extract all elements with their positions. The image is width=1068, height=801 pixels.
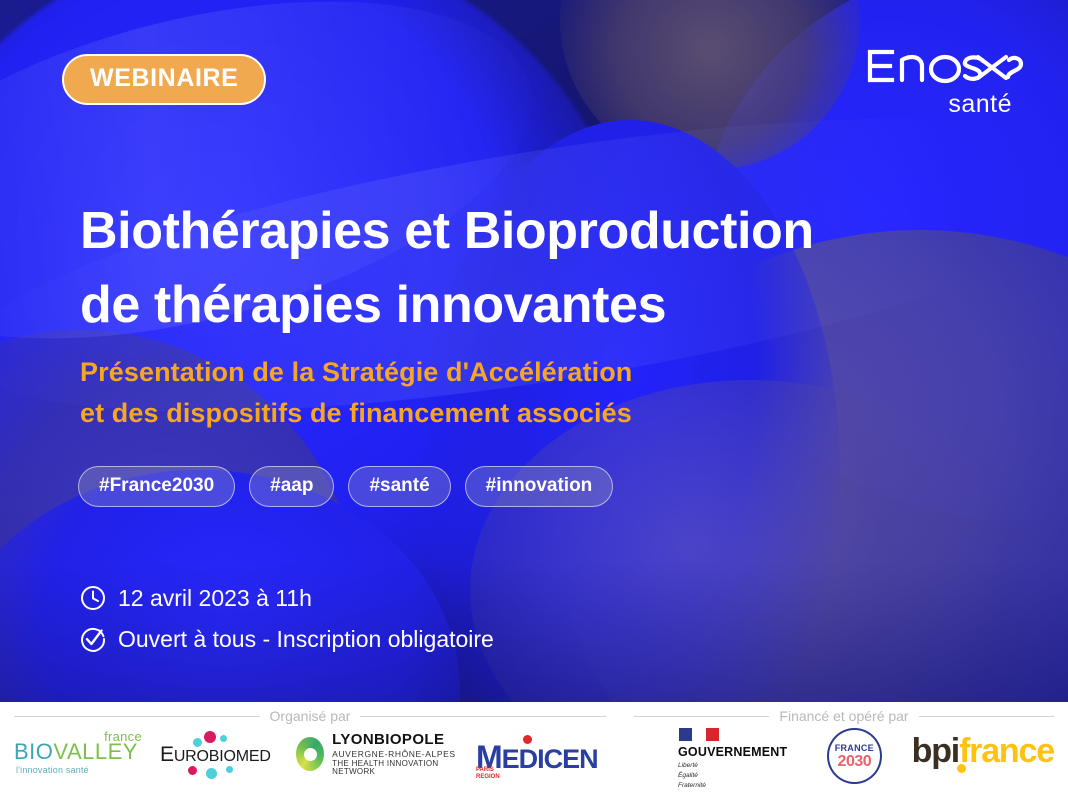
hashtag-sante[interactable]: #santé	[348, 466, 450, 507]
motto-line-2: Égalité	[678, 772, 698, 779]
biovalley-logo[interactable]: france BIOVALLEY l'innovation santé	[14, 729, 144, 779]
lyonbiopole-logo[interactable]: LYONBIOPOLE AUVERGNE-RHÔNE-ALPES THE HEA…	[296, 728, 458, 780]
eurobiomed-dot-4	[188, 766, 197, 775]
lyonbiopole-text: LYONBIOPOLE AUVERGNE-RHÔNE-ALPES THE HEA…	[332, 731, 458, 777]
hashtag-innovation[interactable]: #innovation	[465, 466, 614, 507]
footer: Organisé par france BIOVALLEY l'innovati…	[0, 702, 1068, 801]
subtitle-line-1: Présentation de la Stratégie d'Accélérat…	[80, 357, 632, 387]
funders-section: Financé et opéré par GOUVERNEMENT Libert…	[620, 702, 1068, 801]
france2030-year: 2030	[827, 753, 882, 771]
divider-right	[919, 716, 1054, 717]
organisers-heading: Organisé par	[0, 708, 620, 724]
eurobiomed-wordmark: EUROBIOMED	[160, 744, 271, 765]
biovalley-valley-text: VALLEY	[53, 739, 138, 764]
bpifrance-bpi-text: bpi	[912, 732, 959, 770]
event-access-row: Ouvert à tous - Inscription obligatoire	[80, 626, 494, 652]
eurobiomed-cap: E	[160, 743, 174, 766]
funders-label: Financé et opéré par	[779, 708, 908, 724]
enosis-logo: santé	[866, 44, 1026, 119]
enosis-wordmark-icon	[866, 44, 1026, 88]
lyonbiopole-tagline: THE HEALTH INNOVATION NETWORK	[332, 760, 458, 777]
bpifrance-wordmark: bpifrance	[912, 732, 1054, 770]
funders-heading: Financé et opéré par	[620, 708, 1068, 724]
organisers-label: Organisé par	[270, 708, 351, 724]
gouvernement-motto: Liberté Égalité Fraternité	[678, 761, 797, 790]
divider-left	[14, 716, 260, 717]
france2030-logo[interactable]: FRANCE 2030	[827, 728, 882, 784]
event-access-text: Ouvert à tous - Inscription obligatoire	[118, 628, 494, 651]
event-details: 12 avril 2023 à 11h Ouvert à tous - Insc…	[80, 585, 494, 652]
page-title: Biothérapies et Bioproduction de thérapi…	[80, 195, 980, 343]
title-line-2: de thérapies innovantes	[80, 276, 666, 334]
biovalley-wordmark: BIOVALLEY	[14, 741, 138, 763]
lyonbiopole-ring-icon	[296, 737, 324, 771]
motto-line-3: Fraternité	[678, 782, 706, 789]
hashtag-france2030[interactable]: #France2030	[78, 466, 235, 507]
divider-left	[634, 716, 769, 717]
gouvernement-logo[interactable]: GOUVERNEMENT Liberté Égalité Fraternité	[678, 728, 797, 784]
medicen-rest: EDICEN	[502, 744, 598, 774]
hashtag-aap[interactable]: #aap	[249, 466, 334, 507]
event-date-row: 12 avril 2023 à 11h	[80, 585, 494, 611]
hero-section: WEBINAIRE santé Biothérapies et Bioprodu	[0, 0, 1068, 702]
french-flag-icon	[679, 728, 719, 741]
eurobiomed-dot-2	[220, 735, 227, 742]
medicen-sub-line-1: PARIS	[476, 767, 494, 773]
title-line-1: Biothérapies et Bioproduction	[80, 202, 814, 260]
medicen-sub-line-2: REGION	[476, 774, 500, 780]
eurobiomed-dot-6	[226, 766, 233, 773]
biovalley-tagline: l'innovation santé	[16, 765, 89, 775]
divider-right	[360, 716, 606, 717]
france2030-name: FRANCE	[827, 743, 882, 753]
bpifrance-dot-icon	[957, 764, 966, 773]
funders-logos: GOUVERNEMENT Liberté Égalité Fraternité …	[620, 728, 1068, 784]
webinar-banner: WEBINAIRE santé Biothérapies et Bioprodu	[0, 0, 1068, 801]
eurobiomed-rest: UROBIOMED	[174, 748, 271, 765]
bpifrance-france-text: france	[959, 732, 1054, 770]
medicen-logo[interactable]: MEDICEN PARIS REGION	[474, 729, 596, 779]
enosis-tagline: santé	[866, 90, 1012, 119]
eurobiomed-logo[interactable]: EUROBIOMED	[160, 729, 280, 779]
bpifrance-logo[interactable]: bpifrance	[912, 734, 1058, 778]
lyonbiopole-name: LYONBIOPOLE	[332, 731, 444, 748]
check-circle-icon	[80, 626, 106, 652]
organisers-logos: france BIOVALLEY l'innovation santé EURO…	[0, 728, 620, 780]
organisers-section: Organisé par france BIOVALLEY l'innovati…	[0, 702, 620, 801]
medicen-subtitle: PARIS REGION	[476, 767, 500, 781]
medicen-dot-icon	[523, 735, 532, 744]
motto-line-1: Liberté	[678, 762, 698, 769]
biovalley-bio-text: BIO	[14, 739, 53, 764]
clock-icon	[80, 585, 106, 611]
hashtag-list: #France2030 #aap #santé #innovation	[78, 466, 613, 507]
webinaire-badge: WEBINAIRE	[62, 54, 266, 105]
gouvernement-title: GOUVERNEMENT	[678, 745, 797, 759]
eurobiomed-dot-5	[206, 768, 217, 779]
subtitle-line-2: et des dispositifs de financement associ…	[80, 398, 632, 428]
event-date-text: 12 avril 2023 à 11h	[118, 587, 312, 610]
eurobiomed-dot-1	[204, 731, 216, 743]
page-subtitle: Présentation de la Stratégie d'Accélérat…	[80, 352, 960, 433]
